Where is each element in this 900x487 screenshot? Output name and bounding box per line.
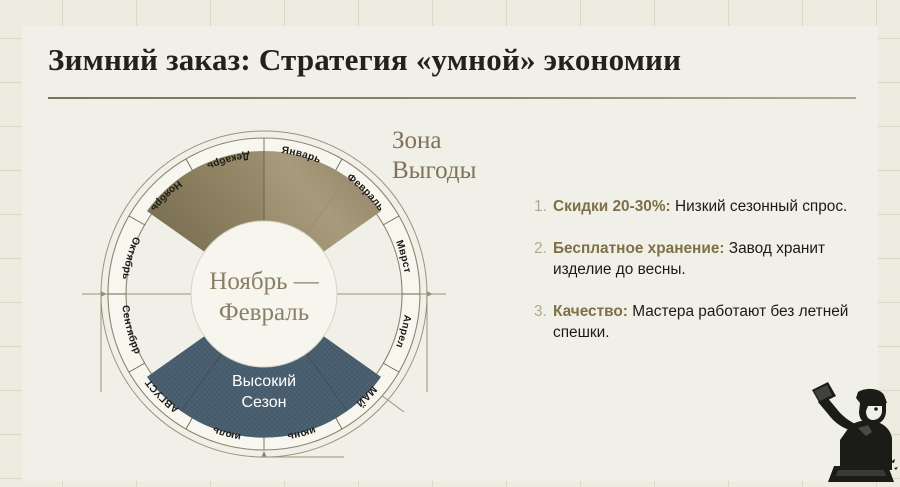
list-item: 2. Бесплатное хранение: Завод хранит изд… (534, 238, 864, 280)
craftsman-icon (806, 378, 898, 482)
benefit-text: Качество: Мастера работают без летней сп… (553, 301, 864, 343)
list-item: 3. Качество: Мастера работают без летней… (534, 301, 864, 343)
benefit-title: Качество: (553, 303, 628, 320)
wheel-center-line2: Февраль (219, 299, 309, 326)
page-title: Зимний заказ: Стратегия «умной» экономии (48, 42, 681, 78)
benefit-text: Скидки 20-30%: Низкий сезонный спрос. (553, 196, 847, 217)
benefit-number: 1. (534, 196, 553, 217)
benefits-list: 1. Скидки 20-30%: Низкий сезонный спрос.… (534, 196, 864, 364)
benefit-zone-callout: Зона Выгоды (392, 126, 476, 186)
benefit-number: 2. (534, 238, 553, 280)
benefit-title: Скидки 20-30%: (553, 198, 671, 215)
benefit-title: Бесплатное хранение: (553, 240, 725, 257)
list-item: 1. Скидки 20-30%: Низкий сезонный спрос. (534, 196, 864, 217)
benefit-text: Бесплатное хранение: Завод хранит издели… (553, 238, 864, 280)
benefit-zone-callout-line2: Выгоды (392, 156, 476, 186)
benefit-number: 3. (534, 301, 553, 343)
benefit-zone-callout-line1: Зона (392, 126, 476, 156)
high-season-label-line2: Сезон (242, 394, 287, 411)
title-divider (48, 97, 856, 99)
benefit-description: Низкий сезонный спрос. (675, 198, 847, 215)
wheel-center-line1: Ноябрь — (209, 268, 319, 295)
high-season-label-line1: Высокий (232, 373, 296, 390)
